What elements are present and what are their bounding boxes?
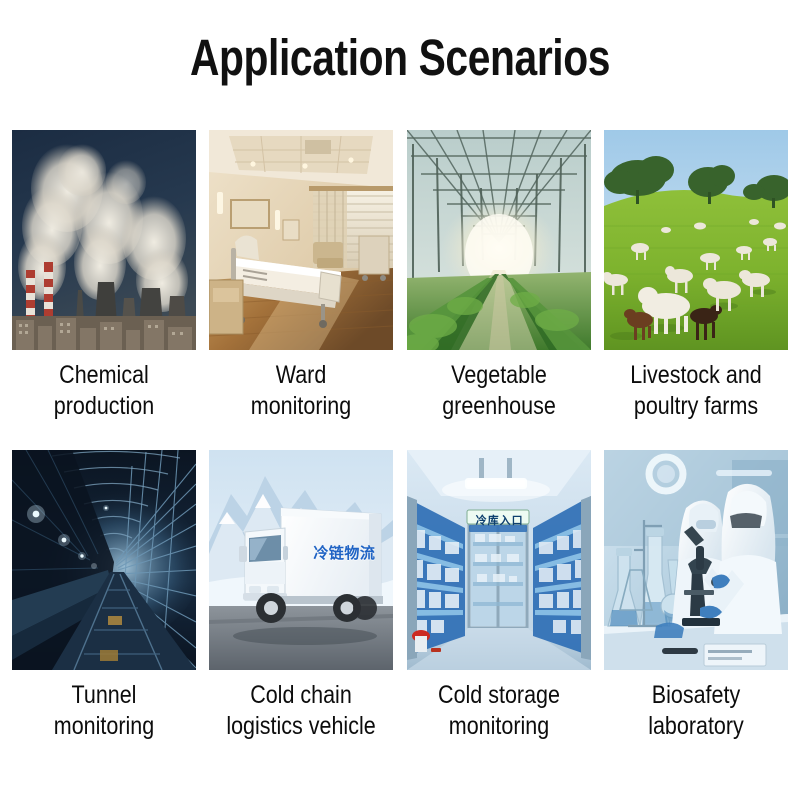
caption-line-1: Cold chain xyxy=(251,681,353,709)
caption-tunnel-monitoring: Tunnel monitoring xyxy=(20,680,189,741)
caption-line-1: Biosafety xyxy=(652,681,740,709)
caption-line-1: Cold storage xyxy=(438,681,560,709)
scenario-tile-ward-monitoring[interactable]: Ward monitoring xyxy=(209,130,393,421)
caption-vegetable-greenhouse: Vegetable greenhouse xyxy=(414,360,583,421)
cold-chain-logistics-vehicle-image: 冷链物流 xyxy=(209,450,393,670)
scenario-tile-cold-chain-logistics-vehicle[interactable]: 冷链物流 Cold chain logistics vehicle xyxy=(209,450,393,741)
vegetable-greenhouse-image xyxy=(407,130,591,350)
caption-cold-storage-monitoring: Cold storage monitoring xyxy=(414,680,583,741)
caption-chemical-production: Chemical production xyxy=(20,360,189,421)
caption-line-1: Ward xyxy=(276,361,327,389)
caption-line-2: greenhouse xyxy=(414,391,583,422)
cold-storage-monitoring-image: 冷库入口 xyxy=(407,450,591,670)
cold-storage-door-sign-text: 冷库入口 xyxy=(469,512,531,528)
scenario-row-1: Chemical production xyxy=(12,130,788,421)
caption-line-2: monitoring xyxy=(217,391,386,422)
caption-line-1: Livestock and xyxy=(630,361,761,389)
scenario-tile-cold-storage-monitoring[interactable]: 冷库入口 Cold storage monitoring xyxy=(407,450,591,741)
caption-line-2: monitoring xyxy=(414,711,583,742)
caption-livestock-poultry-farms: Livestock and poultry farms xyxy=(612,360,781,421)
caption-line-2: laboratory xyxy=(612,711,781,742)
scenario-row-2: Tunnel monitoring xyxy=(12,450,788,741)
application-scenarios-page: Application Scenarios xyxy=(0,0,800,800)
caption-line-2: monitoring xyxy=(20,711,189,742)
biosafety-laboratory-image xyxy=(604,450,788,670)
caption-line-2: production xyxy=(20,391,189,422)
caption-ward-monitoring: Ward monitoring xyxy=(217,360,386,421)
caption-line-2: logistics vehicle xyxy=(217,711,386,742)
scenario-tile-chemical-production[interactable]: Chemical production xyxy=(12,130,196,421)
livestock-poultry-farms-image xyxy=(604,130,788,350)
scenario-tile-vegetable-greenhouse[interactable]: Vegetable greenhouse xyxy=(407,130,591,421)
scenario-tile-tunnel-monitoring[interactable]: Tunnel monitoring xyxy=(12,450,196,741)
caption-biosafety-laboratory: Biosafety laboratory xyxy=(612,680,781,741)
chemical-production-image xyxy=(12,130,196,350)
caption-cold-chain-logistics-vehicle: Cold chain logistics vehicle xyxy=(217,680,386,741)
truck-chinese-text: 冷链物流 xyxy=(313,542,375,563)
caption-line-1: Chemical xyxy=(59,361,149,389)
scenario-tile-biosafety-laboratory[interactable]: Biosafety laboratory xyxy=(604,450,788,741)
caption-line-1: Tunnel xyxy=(72,681,137,709)
ward-monitoring-image xyxy=(209,130,393,350)
scenario-tile-livestock-poultry-farms[interactable]: Livestock and poultry farms xyxy=(604,130,788,421)
caption-line-2: poultry farms xyxy=(612,391,781,422)
caption-line-1: Vegetable xyxy=(451,361,547,389)
page-title: Application Scenarios xyxy=(80,28,720,87)
tunnel-monitoring-image xyxy=(12,450,196,670)
